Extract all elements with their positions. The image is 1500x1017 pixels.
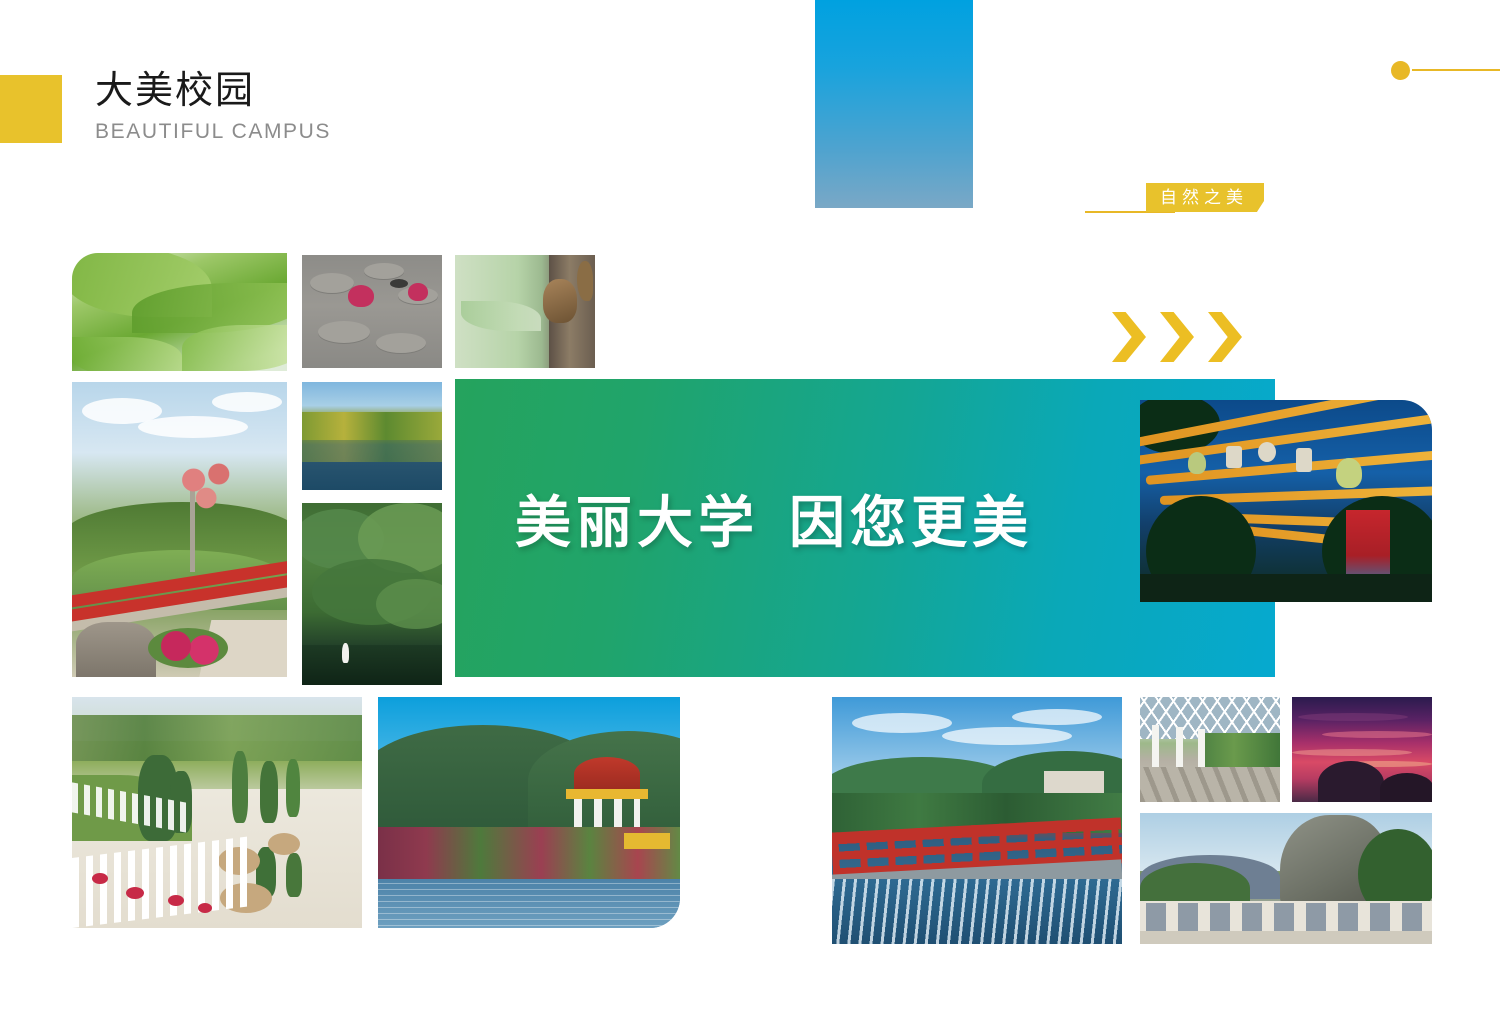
chevron-right-icon — [1112, 312, 1146, 362]
photo-purple-sunset — [1292, 697, 1432, 802]
photo-cactus-garden — [72, 697, 362, 928]
page-title-en: BEAUTIFUL CAMPUS — [95, 118, 331, 146]
accent-square — [0, 75, 62, 143]
photo-rock-arcade-bridge — [1140, 813, 1432, 944]
page-title-cn: 大美校园 — [95, 68, 331, 114]
yellow-rule-right — [1412, 69, 1500, 71]
chevron-arrow-group — [1112, 312, 1242, 362]
blue-gradient-block — [815, 0, 973, 208]
photo-autumn-lake-reflection — [302, 382, 442, 490]
photo-red-bridge-waterfall — [832, 697, 1122, 944]
nature-badge-label: 自然之美 — [1160, 183, 1248, 212]
photo-lily-pads — [302, 255, 442, 368]
photo-red-bridge-blossom — [72, 382, 287, 677]
photo-forest-egret-pond — [302, 503, 442, 685]
photo-yellow-arch-gateway — [1140, 400, 1432, 602]
chevron-right-icon — [1160, 312, 1194, 362]
page-title: 大美校园 BEAUTIFUL CAMPUS — [95, 68, 331, 146]
photo-bamboo-leaves — [72, 253, 287, 371]
photo-squirrel-on-tree — [455, 255, 595, 368]
photo-pergola-walkway — [1140, 697, 1280, 802]
yellow-dot-marker — [1391, 61, 1410, 80]
slogan-part-2: 因您更美 — [789, 491, 1033, 554]
photo-gazebo-lakeside — [378, 697, 680, 928]
chevron-right-icon — [1208, 312, 1242, 362]
nature-badge: 自然之美 — [1146, 183, 1264, 212]
slogan-part-1: 美丽大学 — [515, 491, 759, 554]
main-slogan-text: 美丽大学因您更美 — [515, 487, 1033, 559]
